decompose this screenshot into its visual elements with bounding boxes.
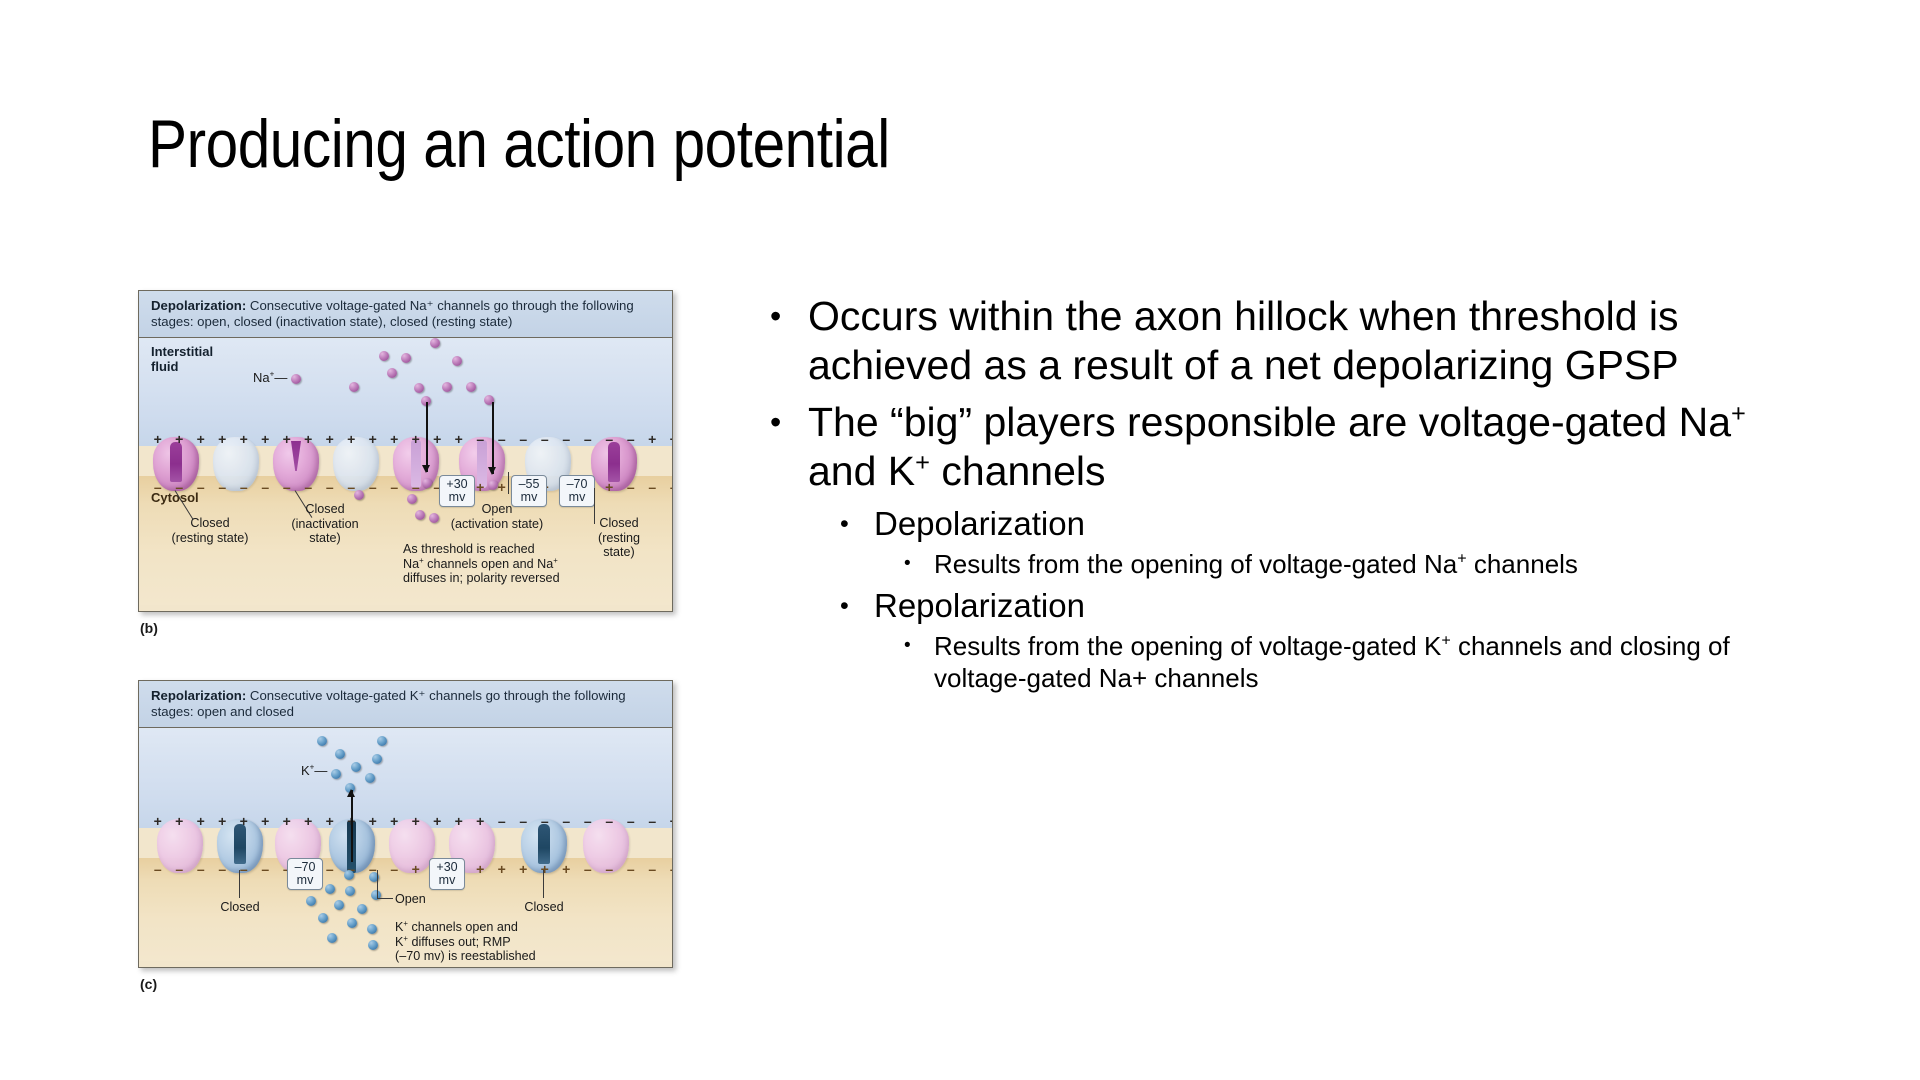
k-ion <box>347 918 357 928</box>
na-ion <box>349 382 359 392</box>
figure-b-caption: Depolarization: Consecutive voltage-gate… <box>139 291 672 338</box>
na-ion-pointer-label: Na+— <box>253 371 287 386</box>
na-influx-arrow-2 <box>492 402 494 474</box>
leader-line-open <box>508 472 509 494</box>
charges-outer-b: +++++++++++++++––––––––++++++++++ <box>139 432 672 446</box>
label-closed-right-c: Closed <box>501 900 587 915</box>
na-ion <box>401 353 411 363</box>
k-ion <box>325 884 335 894</box>
label-open-activation: Open(activation state) <box>413 502 581 531</box>
figure-repolarization: Repolarization: Consecutive voltage-gate… <box>138 680 673 968</box>
k-ion <box>306 896 316 906</box>
k-ion <box>377 736 387 746</box>
na-ion <box>430 338 440 348</box>
interstitial-fluid-label: Interstitialfluid <box>151 344 213 374</box>
na-ion <box>379 351 389 361</box>
label-closed-resting-left: Closed(resting state) <box>147 516 273 545</box>
bullet-level3-depolarization-detail: Results from the opening of voltage-gate… <box>762 548 1802 580</box>
bullet-level1-big-players: The “big” players responsible are voltag… <box>762 398 1802 496</box>
k-ion <box>344 870 354 880</box>
na-ion <box>488 480 498 490</box>
voltage-box-minus70-c: –70mv <box>287 858 323 890</box>
bullet-level2-repolarization: Repolarization <box>762 586 1802 626</box>
k-efflux-arrow <box>351 790 353 862</box>
na-ion <box>422 478 432 488</box>
voltage-box-plus30-c: +30mv <box>429 858 465 890</box>
k-ion-pointer-label: K+— <box>301 764 327 779</box>
na-ion <box>442 382 452 392</box>
na-ion <box>414 383 424 393</box>
bullet-level3-repolarization-detail: Results from the opening of voltage-gate… <box>762 630 1802 694</box>
label-closed-left-c: Closed <box>197 900 283 915</box>
k-ion <box>365 773 375 783</box>
leader-line-closed-right <box>543 870 544 898</box>
label-repolarization-description: K+ channels open andK+ diffuses out; RMP… <box>395 920 625 964</box>
figure-c-caption-bold: Repolarization: <box>151 688 246 703</box>
bullet-list: Occurs within the axon hillock when thre… <box>762 292 1802 700</box>
bullet-level2-depolarization: Depolarization <box>762 504 1802 544</box>
na-influx-arrow-1 <box>426 402 428 472</box>
k-ion <box>327 933 337 943</box>
k-ion <box>317 736 327 746</box>
figure-c-body: ++++++++++++++++––––––––++++++++ –––––––… <box>139 728 672 961</box>
k-ion <box>345 886 355 896</box>
k-ion <box>334 900 344 910</box>
charges-inner-c: ––––––––––––++++++++–––––––– <box>139 862 672 876</box>
label-open-c: Open <box>395 892 485 907</box>
k-ion <box>331 769 341 779</box>
figure-c-caption: Repolarization: Consecutive voltage-gate… <box>139 681 672 728</box>
figure-depolarization: Depolarization: Consecutive voltage-gate… <box>138 290 673 612</box>
na-ion <box>291 374 301 384</box>
leader-line-open-c <box>377 870 378 898</box>
figure-b-body: +++++++++++++++––––––––++++++++++ ––––––… <box>139 338 672 605</box>
page-title: Producing an action potential <box>148 105 890 183</box>
k-ion <box>367 924 377 934</box>
k-ion <box>357 904 367 914</box>
label-closed-inactivation: Closed(inactivationstate) <box>269 502 381 546</box>
figure-b-caption-bold: Depolarization: <box>151 298 246 313</box>
bullet-level1-occurs: Occurs within the axon hillock when thre… <box>762 292 1802 390</box>
leader-line-open-c-horizontal <box>377 898 393 899</box>
k-ion <box>372 754 382 764</box>
na-ion <box>354 490 364 500</box>
na-ion <box>466 382 476 392</box>
k-ion <box>318 913 328 923</box>
k-ion <box>368 940 378 950</box>
na-ion <box>452 356 462 366</box>
figure-c-panel-letter: (c) <box>140 976 157 992</box>
leader-line-closed-left <box>239 870 240 898</box>
na-ion <box>387 368 397 378</box>
charges-outer-c: ++++++++++++++++––––––––++++++++ <box>139 814 672 828</box>
figure-b-panel-letter: (b) <box>140 620 158 636</box>
k-ion <box>351 762 361 772</box>
k-ion <box>335 749 345 759</box>
label-threshold-description: As threshold is reachedNa+ channels open… <box>403 542 623 586</box>
